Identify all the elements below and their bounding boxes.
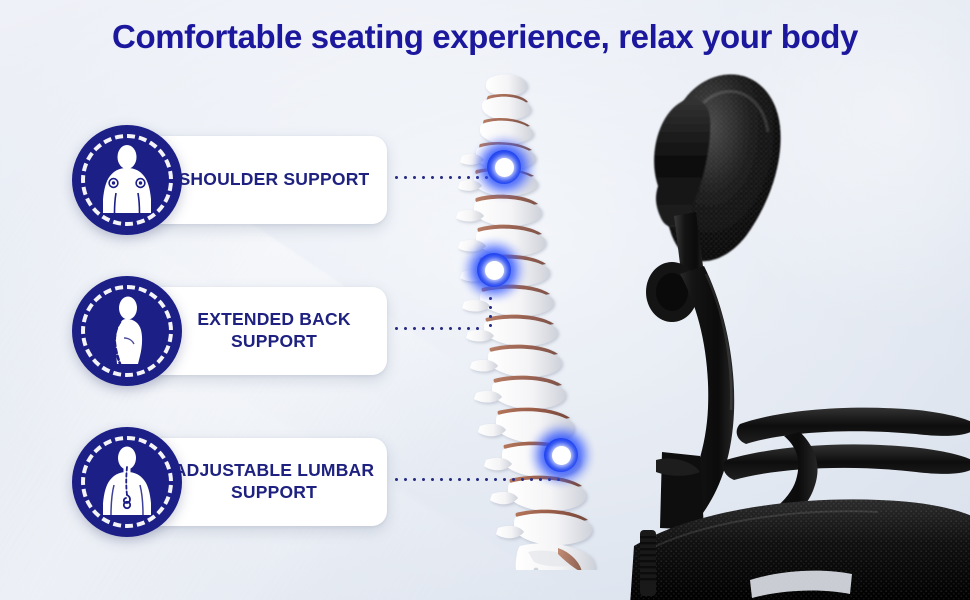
lumbar-glow <box>530 424 592 486</box>
feature-adjustable-lumbar-support[interactable]: ADJUSTABLE LUMBAR SUPPORT <box>72 438 387 526</box>
torso-profile-spine-icon <box>90 294 164 368</box>
chair-armrest-lower <box>723 444 970 480</box>
shoulder-support-badge-icon <box>72 125 182 235</box>
feature-shoulder-support[interactable]: SHOULDER SUPPORT <box>72 136 387 224</box>
page-title: Comfortable seating experience, relax yo… <box>0 18 970 56</box>
feature-label: SHOULDER SUPPORT <box>179 169 370 191</box>
adjustable-lumbar-support-badge-icon <box>72 427 182 537</box>
torso-front-shoulders-icon <box>90 143 164 217</box>
cervical-thoracic-glow <box>473 136 535 198</box>
thoracic-glow <box>463 239 525 301</box>
feature-label: EXTENDED BACK SUPPORT <box>197 309 350 353</box>
chair-armrest-upper <box>737 408 970 444</box>
lower-thoracic-vertebrae <box>470 345 566 410</box>
anatomical-spine-illustration <box>440 70 640 570</box>
background-swoosh-2 <box>0 166 416 600</box>
promo-banner: Comfortable seating experience, relax yo… <box>0 0 970 600</box>
connector-extended-back <box>392 327 480 330</box>
chair-gas-lift <box>640 530 656 596</box>
extended-back-support-badge-icon <box>72 276 182 386</box>
sacrum-pelvis <box>516 543 595 570</box>
feature-extended-back-support[interactable]: EXTENDED BACK SUPPORT <box>72 287 387 375</box>
ergonomic-mesh-office-chair <box>600 60 970 600</box>
feature-label: ADJUSTABLE LUMBAR SUPPORT <box>174 460 374 504</box>
torso-back-lumbar-icon <box>90 445 164 519</box>
